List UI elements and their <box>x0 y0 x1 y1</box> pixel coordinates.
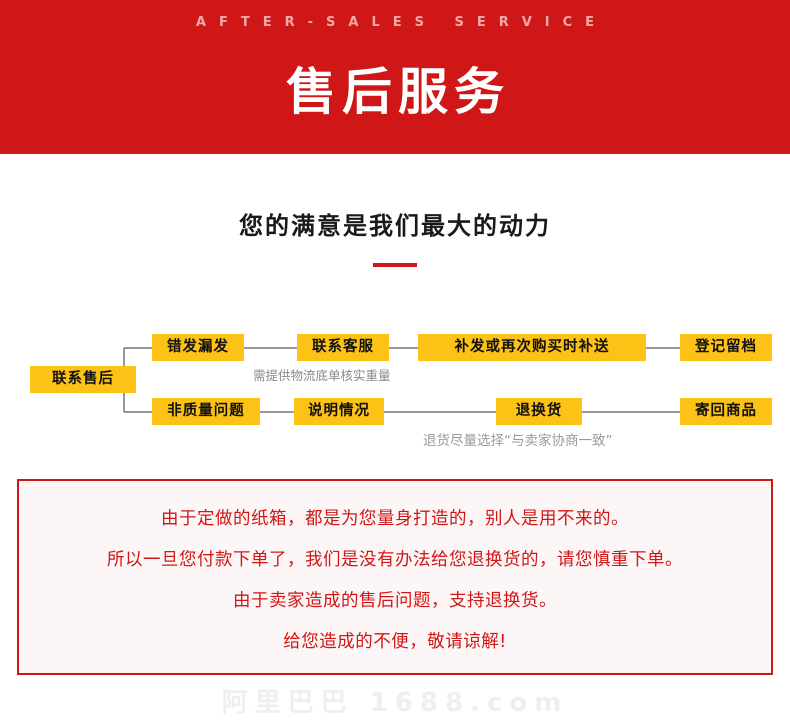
flow-node-row2-1: 非质量问题 <box>152 398 260 425</box>
after-sales-notice-box: 由于定做的纸箱，都是为您量身打造的，别人是用不来的。 所以一旦您付款下单了，我们… <box>17 479 773 675</box>
service-flow-diagram: 联系售后 错发漏发 联系客服 补发或再次购买时补送 登记留档 非质量问题 说明情… <box>0 305 790 445</box>
banner-divider <box>0 154 790 158</box>
flow-node-row2-2: 说明情况 <box>294 398 384 425</box>
flow-node-start: 联系售后 <box>30 366 136 393</box>
banner-subtitle: AFTER-SALES SERVICE <box>0 15 790 30</box>
flow-node-row1-1: 错发漏发 <box>152 334 244 361</box>
slogan-underline <box>373 263 417 267</box>
flow-node-row2-3: 退换货 <box>496 398 582 425</box>
flow-note-logistics: 需提供物流底单核实重量 <box>253 365 391 384</box>
slogan-text: 您的满意是我们最大的动力 <box>0 206 790 241</box>
flow-node-row1-3: 补发或再次购买时补送 <box>418 334 646 361</box>
watermark-text: 阿里巴巴 1688.com <box>0 682 790 719</box>
notice-line-2: 所以一旦您付款下单了，我们是没有办法给您退换货的，请您慎重下单。 <box>19 540 771 581</box>
flow-node-row2-4: 寄回商品 <box>680 398 772 425</box>
notice-line-3: 由于卖家造成的售后问题，支持退换货。 <box>19 581 771 622</box>
notice-line-4: 给您造成的不便，敬请谅解! <box>19 622 771 663</box>
banner-title: 售后服务 <box>0 52 790 124</box>
flow-node-row1-4: 登记留档 <box>680 334 772 361</box>
page-header-banner: AFTER-SALES SERVICE 售后服务 <box>0 0 790 158</box>
flow-node-row1-2: 联系客服 <box>297 334 389 361</box>
flow-note-return: 退货尽量选择“与卖家协商一致” <box>423 429 613 449</box>
notice-line-1: 由于定做的纸箱，都是为您量身打造的，别人是用不来的。 <box>19 499 771 540</box>
